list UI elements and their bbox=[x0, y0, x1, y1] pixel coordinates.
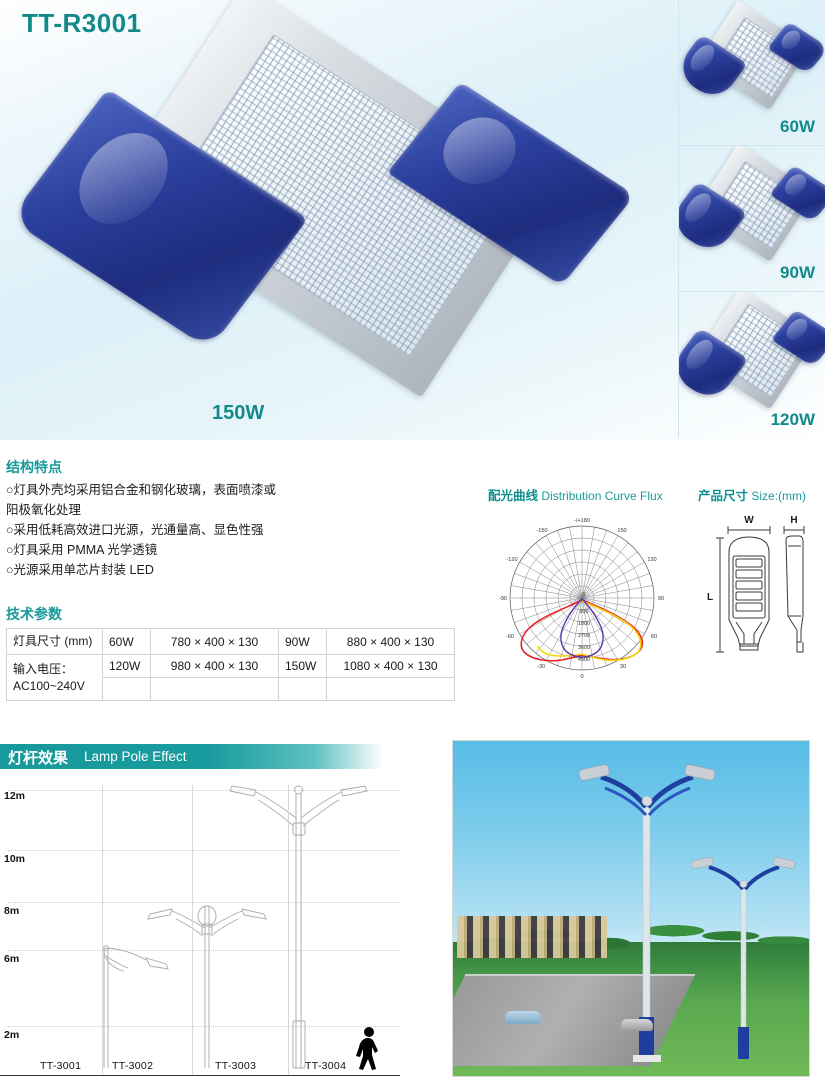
thumbnail-60w[interactable]: 60W bbox=[678, 0, 825, 146]
spec-wattage: 150W bbox=[279, 655, 327, 678]
size-title-en: Size:(mm) bbox=[751, 489, 806, 503]
pole-cell-separator bbox=[288, 785, 289, 1075]
pole-tt-3002 bbox=[148, 906, 266, 1068]
main-product-photo: TT-R3001 150W bbox=[0, 0, 676, 440]
distribution-title-en: Distribution Curve Flux bbox=[541, 489, 662, 503]
radial-label: 3600 bbox=[578, 645, 590, 651]
angle-label: 60 bbox=[651, 634, 657, 640]
dim-label-w: W bbox=[744, 515, 754, 526]
lamp-fixture-60w bbox=[678, 0, 825, 136]
hero-section: TT-R3001 150W bbox=[0, 0, 825, 440]
lamp-pole-diagram: 12m 10m 8m 6m 2m bbox=[0, 778, 400, 1084]
thumbnail-90w[interactable]: 90W bbox=[678, 146, 825, 292]
angle-label: 150 bbox=[617, 528, 626, 534]
thumbnail-120w[interactable]: 120W bbox=[678, 292, 825, 438]
feature-item: ○灯具外壳均采用铝合金和钢化玻璃，表面喷漆或 bbox=[6, 480, 426, 500]
angle-label: -30 bbox=[537, 664, 545, 670]
feature-item: ○光源采用单芯片封装 LED bbox=[6, 560, 426, 580]
thumbnail-wattage-label: 60W bbox=[780, 117, 815, 137]
curve-yellow bbox=[538, 601, 641, 660]
pole-silhouettes bbox=[0, 778, 400, 1084]
spec-dimension bbox=[151, 678, 279, 701]
spec-dimension bbox=[327, 678, 455, 701]
radial-label: 1800 bbox=[578, 621, 590, 627]
lamp-fixture-main bbox=[9, 0, 630, 440]
angle-label: 0 bbox=[580, 674, 583, 680]
main-wattage-label: 150W bbox=[212, 402, 264, 425]
angle-label: 120 bbox=[647, 557, 656, 563]
angle-label: -120 bbox=[506, 557, 517, 563]
pole-cell-separator bbox=[192, 785, 193, 1075]
features-heading: 结构特点 bbox=[6, 457, 62, 477]
spec-row-label-1: 灯具尺寸 (mm) bbox=[7, 629, 103, 655]
radial-label: 4500 bbox=[578, 657, 590, 663]
specifications-section: 结构特点 ○灯具外壳均采用铝合金和钢化玻璃，表面喷漆或 阳极氧化处理 ○采用低耗… bbox=[0, 440, 825, 730]
spec-dimension: 780 × 400 × 130 bbox=[151, 629, 279, 655]
photo-car bbox=[621, 1019, 653, 1031]
specifications-table: 灯具尺寸 (mm) 60W 780 × 400 × 130 90W 880 × … bbox=[6, 628, 455, 701]
feature-item: 阳极氧化处理 bbox=[6, 500, 426, 520]
table-row: 灯具尺寸 (mm) 60W 780 × 400 × 130 90W 880 × … bbox=[7, 629, 455, 655]
thumbnail-column: 60W 90W bbox=[678, 0, 825, 440]
features-list: ○灯具外壳均采用铝合金和钢化玻璃，表面喷漆或 阳极氧化处理 ○采用低耗高效进口光… bbox=[6, 480, 426, 580]
features-heading-wrap: 结构特点 bbox=[6, 457, 62, 477]
specs-heading: 技术参数 bbox=[6, 604, 62, 624]
feature-item: ○灯具采用 PMMA 光学透镜 bbox=[6, 540, 426, 560]
pole-tt-3001 bbox=[104, 946, 168, 1068]
angle-label: 90 bbox=[658, 596, 664, 602]
spec-voltage-value: AC100~240V bbox=[13, 678, 96, 695]
spec-wattage: 60W bbox=[103, 629, 151, 655]
installation-photo bbox=[452, 740, 810, 1077]
product-catalog-page: TT-R3001 150W bbox=[0, 0, 825, 1084]
dim-label-l: L bbox=[707, 592, 713, 603]
spec-row-label-2: 输入电压： AC100~240V bbox=[7, 655, 103, 701]
angle-label: -/+180 bbox=[574, 518, 590, 524]
angle-label: -150 bbox=[536, 528, 547, 534]
pole-cell-separator bbox=[102, 785, 103, 1075]
spec-dimension: 980 × 400 × 130 bbox=[151, 655, 279, 678]
pole-label: TT-3002 bbox=[112, 1060, 153, 1072]
angle-label: 30 bbox=[620, 664, 626, 670]
radial-label: 2700 bbox=[578, 633, 590, 639]
spec-wattage: 90W bbox=[279, 629, 327, 655]
radial-label: 900 bbox=[580, 609, 589, 615]
spec-wattage bbox=[279, 678, 327, 701]
pole-tt-3003 bbox=[230, 786, 367, 1068]
spec-wattage bbox=[103, 678, 151, 701]
spec-wattage: 120W bbox=[103, 655, 151, 678]
pole-title-en: Lamp Pole Effect bbox=[84, 749, 187, 764]
ground-line bbox=[0, 1075, 400, 1076]
thumbnail-wattage-label: 90W bbox=[780, 263, 815, 283]
pole-label: TT-3001 bbox=[40, 1060, 81, 1072]
size-title-cn: 产品尺寸 bbox=[698, 489, 748, 503]
spec-voltage-label: 输入电压： bbox=[13, 661, 96, 678]
pole-label: TT-3004 bbox=[305, 1060, 346, 1072]
size-drawing-caption: 产品尺寸 Size:(mm) bbox=[698, 485, 806, 504]
dim-label-h: H bbox=[790, 515, 797, 526]
photo-car bbox=[505, 1011, 541, 1024]
radial-label-center: 0 bbox=[583, 592, 586, 598]
pedestrian-icon bbox=[352, 1026, 382, 1072]
distribution-polar-chart: 900 1800 2700 3600 4500 0 -/+180 -150 15… bbox=[492, 512, 672, 687]
photo-lamp-pole-back bbox=[689, 851, 799, 1071]
pole-label: TT-3003 bbox=[215, 1060, 256, 1072]
spec-dimension: 1080 × 400 × 130 bbox=[327, 655, 455, 678]
angle-label: -60 bbox=[506, 634, 514, 640]
thumbnail-wattage-label: 120W bbox=[771, 410, 815, 430]
table-row: 输入电压： AC100~240V 120W 980 × 400 × 130 15… bbox=[7, 655, 455, 678]
distribution-title-cn: 配光曲线 bbox=[488, 489, 538, 503]
lamp-pole-header-bar: 灯杆效果 Lamp Pole Effect bbox=[0, 744, 383, 769]
product-dimension-drawing: W H L bbox=[700, 512, 820, 682]
distribution-curve-caption: 配光曲线 Distribution Curve Flux bbox=[488, 485, 663, 504]
feature-item: ○采用低耗高效进口光源，光通量高、显色性强 bbox=[6, 520, 426, 540]
angle-label: -90 bbox=[499, 596, 507, 602]
spec-dimension: 880 × 400 × 130 bbox=[327, 629, 455, 655]
pole-title-cn: 灯杆效果 bbox=[8, 747, 68, 768]
